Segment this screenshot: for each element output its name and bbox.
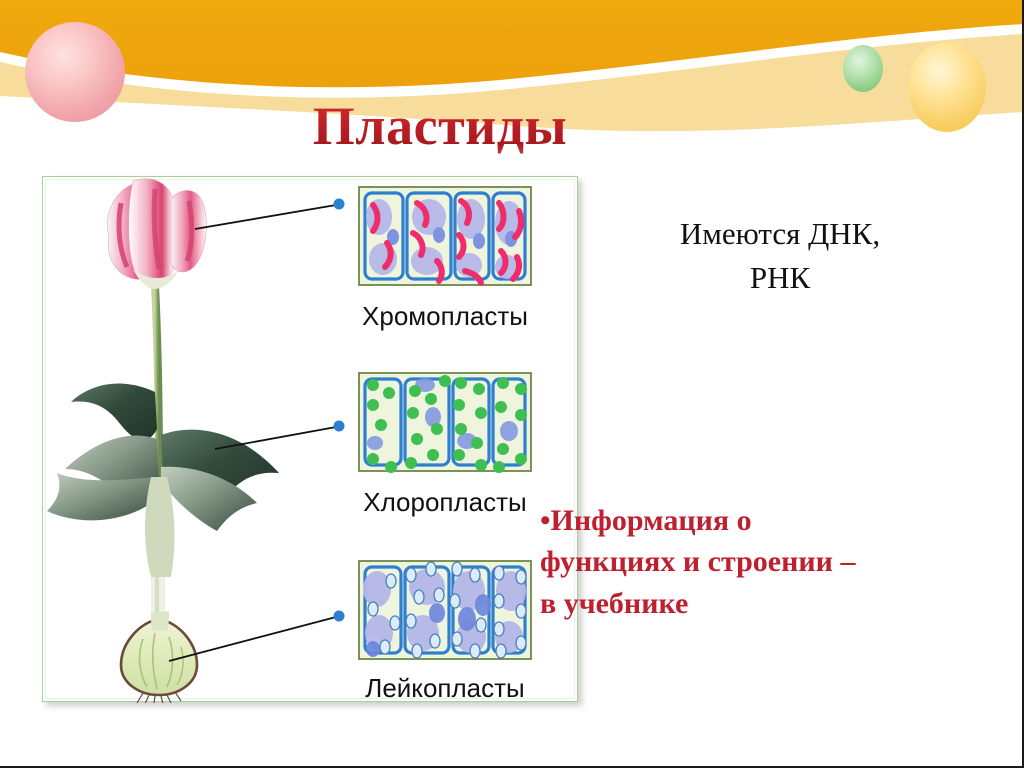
yellow-bubble-icon bbox=[908, 42, 986, 132]
leader-dot-leucoplasts bbox=[334, 611, 345, 622]
tulip-petal-center bbox=[129, 179, 173, 282]
label-leucoplasts-text: Лейкопласты bbox=[365, 673, 524, 703]
plastids-diagram-panel: Хромопласты bbox=[42, 176, 578, 702]
slide: Пластиды bbox=[0, 0, 1024, 768]
plant-leaf-upper-left bbox=[71, 384, 157, 440]
cell-diagram-chromoplasts bbox=[359, 187, 531, 285]
tulip-plant-illustration bbox=[47, 179, 279, 703]
textbook-info-note: •Информация о функциях и строении – в уч… bbox=[540, 500, 980, 624]
dna-rna-note: Имеются ДНК, РНК bbox=[580, 212, 980, 300]
cell-diagram-chloroplasts bbox=[359, 373, 531, 473]
label-chromoplasts-text: Хромопласты bbox=[362, 301, 528, 331]
plant-leaf-center-sheath bbox=[145, 477, 174, 577]
leader-dot-chloroplasts bbox=[334, 421, 345, 432]
tulip-flower bbox=[107, 179, 206, 289]
leader-line-chloroplasts bbox=[215, 427, 336, 449]
leader-dot-chromoplasts bbox=[334, 199, 345, 210]
green-bubble-icon bbox=[843, 45, 883, 92]
bulb-neck bbox=[151, 611, 169, 631]
page-title: Пластиды bbox=[0, 95, 880, 157]
leader-line-chromoplasts bbox=[195, 205, 336, 229]
cell-diagram-leucoplasts bbox=[359, 561, 531, 659]
leader-line-leucoplasts bbox=[169, 617, 336, 661]
label-chloroplasts-text: Хлоропласты bbox=[363, 487, 527, 517]
